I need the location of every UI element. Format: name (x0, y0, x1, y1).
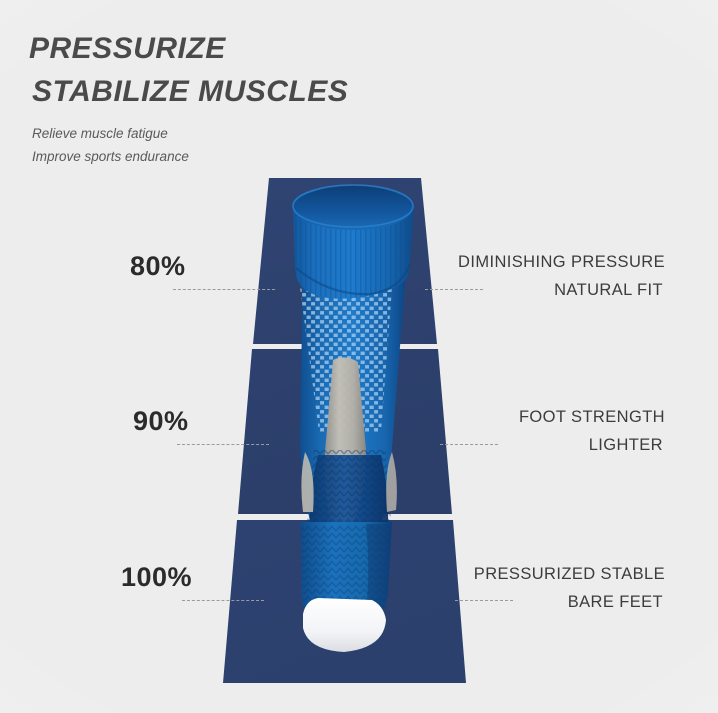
zone-callout-middle-subtitle: LIGHTER (519, 431, 665, 459)
leader-line-right-middle (440, 444, 498, 445)
headline-line-2: STABILIZE MUSCLES (29, 71, 589, 114)
subheading-2: Improve sports endurance (29, 145, 189, 168)
leader-line-left-middle (177, 444, 269, 445)
zone-callout-middle-title: FOOT STRENGTH (519, 403, 665, 431)
zone-callout-middle: FOOT STRENGTH LIGHTER (519, 403, 665, 460)
zone-percent-90: 90% (133, 406, 189, 437)
headline-line-1: PRESSURIZE (29, 28, 589, 71)
zone-percent-100: 100% (121, 562, 192, 593)
leader-line-left-lower (182, 600, 264, 601)
zone-callout-upper-title: DIMINISHING PRESSURE (458, 248, 665, 276)
subheading-block: Relieve muscle fatigue Improve sports en… (29, 122, 189, 168)
subheading-1: Relieve muscle fatigue (29, 122, 189, 145)
zone-callout-upper: DIMINISHING PRESSURE NATURAL FIT (458, 248, 665, 305)
infographic-canvas: PRESSURIZE STABILIZE MUSCLES Relieve mus… (0, 0, 718, 713)
zone-callout-lower: PRESSURIZED STABLE BARE FEET (474, 560, 665, 617)
zone-callout-lower-title: PRESSURIZED STABLE (474, 560, 665, 588)
leader-line-left-upper (173, 289, 275, 290)
headline-block: PRESSURIZE STABILIZE MUSCLES (29, 28, 589, 113)
zone-callout-lower-subtitle: BARE FEET (474, 588, 665, 616)
zone-percent-80: 80% (130, 251, 186, 282)
zone-callout-upper-subtitle: NATURAL FIT (458, 276, 665, 304)
